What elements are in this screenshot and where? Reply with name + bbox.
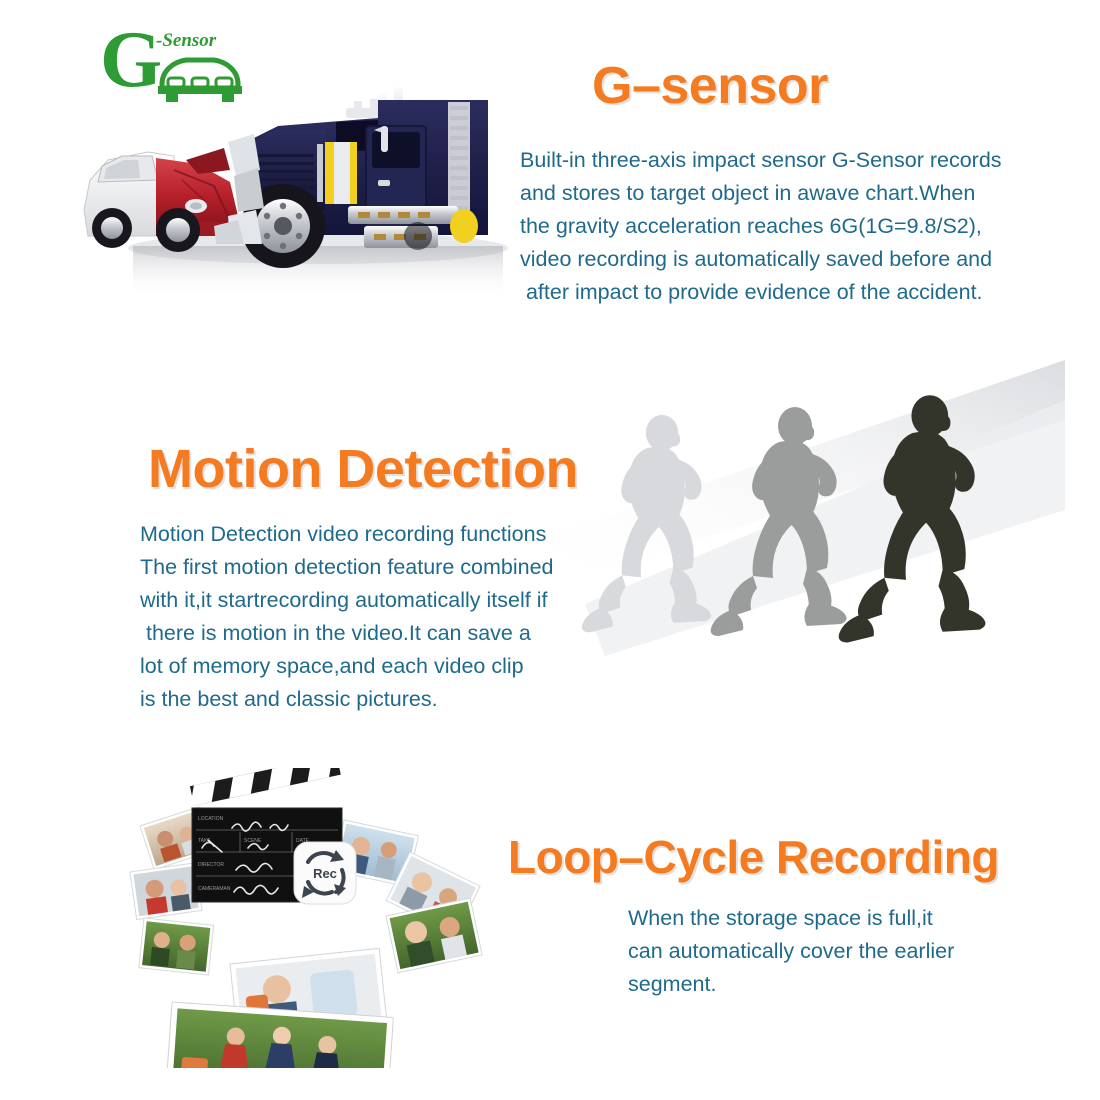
section-loop-cycle-recording: LOCATION TAKE SCENE DATE DIRECTOR CAMERA…: [0, 730, 1100, 1100]
g-sensor-logo: G -Sensor: [100, 24, 250, 110]
three-running-silhouettes: [545, 360, 1065, 690]
gsensor-body-clip: Built-in three-axis impact sensor G-Sens…: [510, 140, 1018, 315]
logo-suffix-text: -Sensor: [156, 30, 216, 52]
svg-text:DIRECTOR: DIRECTOR: [198, 862, 224, 868]
green-car-icon: [152, 50, 248, 111]
svg-text:LOCATION: LOCATION: [198, 816, 224, 822]
motion-detection-body-text: Motion Detection video recording functio…: [140, 518, 554, 716]
section-motion-detection: Motion Detection Motion Detection video …: [0, 330, 1100, 730]
svg-text:CAMERAMAN: CAMERAMAN: [198, 886, 231, 892]
svg-text:Rec: Rec: [313, 866, 337, 881]
loop-cycle-recording-heading: Loop–Cycle Recording: [508, 830, 999, 884]
motion-detection-heading: Motion Detection: [148, 438, 578, 500]
photo-loop-clapperboard: LOCATION TAKE SCENE DATE DIRECTOR CAMERA…: [118, 768, 518, 1068]
product-feature-page: G -Sensor G–sen: [0, 0, 1100, 1100]
loop-cycle-recording-body-text: When the storage space is full,it can au…: [628, 902, 954, 1001]
gsensor-heading: G–sensor: [592, 56, 828, 116]
gsensor-body-text: Built-in three-axis impact sensor G-Sens…: [520, 144, 1002, 309]
section-gsensor: G -Sensor G–sen: [0, 0, 1100, 330]
